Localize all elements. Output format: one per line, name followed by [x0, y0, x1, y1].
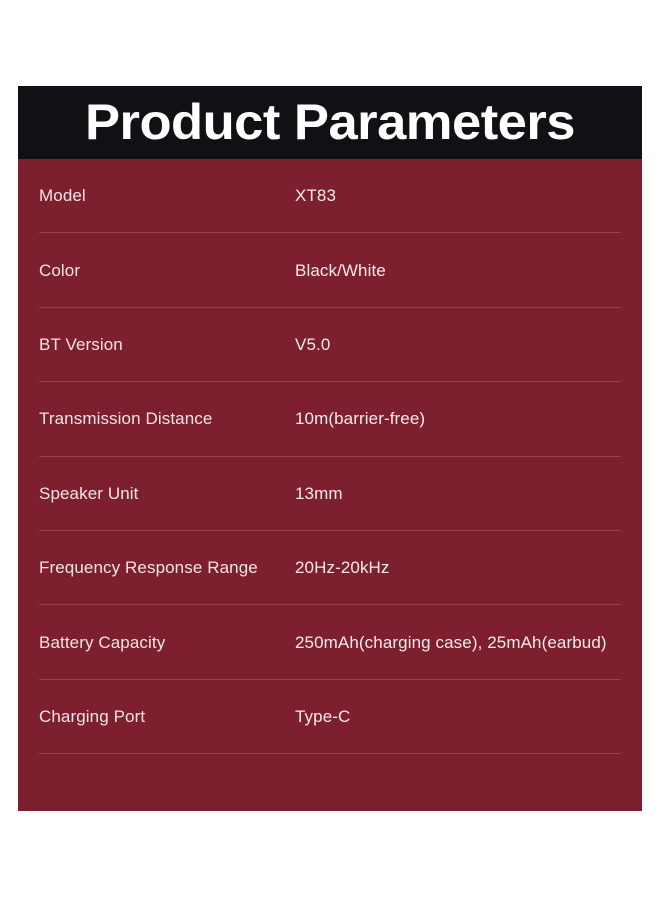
param-value: 13mm [295, 484, 621, 504]
param-label: Frequency Response Range [39, 558, 295, 578]
table-row: Charging Port Type-C [18, 680, 642, 754]
param-label: Transmission Distance [39, 409, 295, 429]
param-label: Model [39, 186, 295, 206]
spec-sheet-canvas: Product Parameters Model XT83 Color Blac… [0, 0, 660, 900]
table-row: BT Version V5.0 [18, 308, 642, 382]
param-label: Speaker Unit [39, 484, 295, 504]
param-value: V5.0 [295, 335, 621, 355]
page-title: Product Parameters [85, 97, 575, 147]
param-value: 250mAh(charging case), 25mAh(earbud) [295, 633, 621, 653]
table-row: Speaker Unit 13mm [18, 457, 642, 531]
product-parameters-card: Product Parameters Model XT83 Color Blac… [18, 86, 642, 811]
param-value: Type-C [295, 707, 621, 727]
table-row: Transmission Distance 10m(barrier-free) [18, 382, 642, 456]
table-row: Color Black/White [18, 233, 642, 307]
param-value: Black/White [295, 261, 621, 281]
table-row: Model XT83 [18, 159, 642, 233]
param-label: Color [39, 261, 295, 281]
param-label: BT Version [39, 335, 295, 355]
param-value: 10m(barrier-free) [295, 409, 621, 429]
param-label: Battery Capacity [39, 633, 295, 653]
param-value: XT83 [295, 186, 621, 206]
param-value: 20Hz-20kHz [295, 558, 621, 578]
parameters-table: Model XT83 Color Black/White BT Version … [18, 159, 642, 811]
table-row: Battery Capacity 250mAh(charging case), … [18, 605, 642, 679]
card-header-band: Product Parameters [18, 86, 642, 159]
param-label: Charging Port [39, 707, 295, 727]
row-divider [39, 753, 621, 754]
table-row: Frequency Response Range 20Hz-20kHz [18, 531, 642, 605]
